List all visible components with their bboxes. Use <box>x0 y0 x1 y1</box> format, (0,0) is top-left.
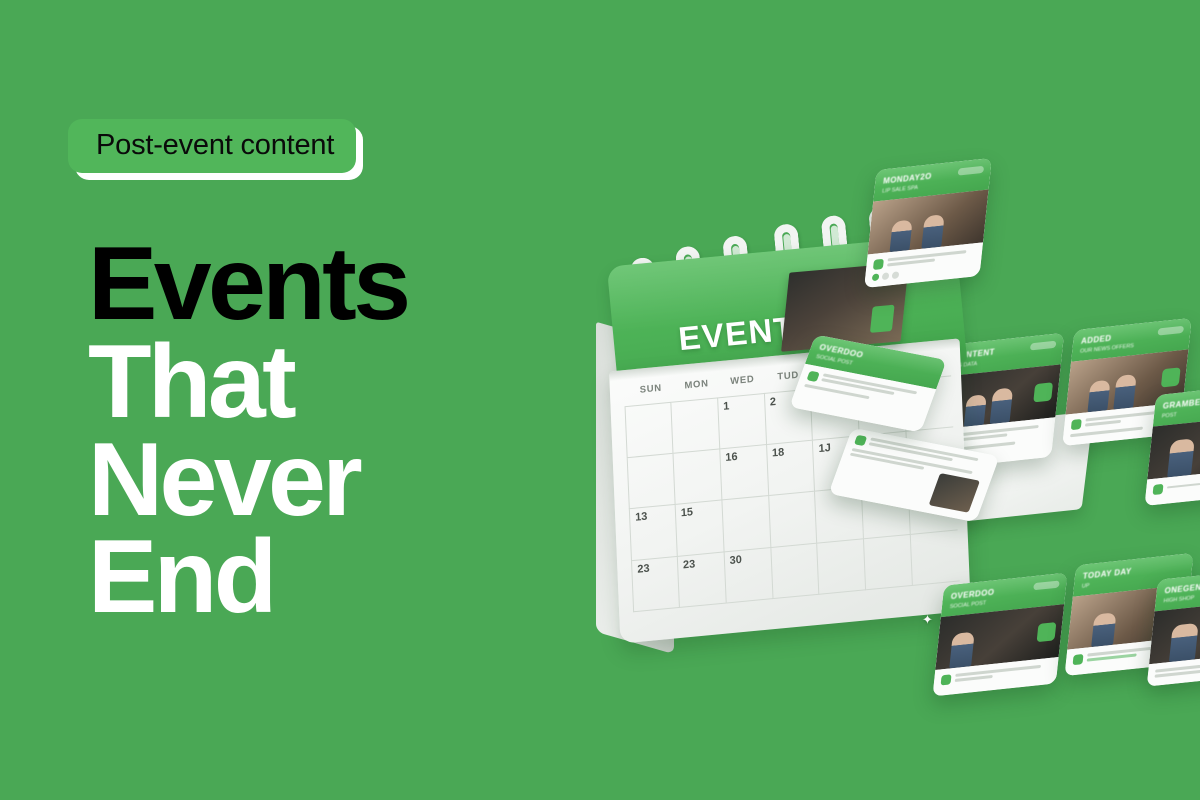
body-row <box>1153 474 1200 495</box>
headline-line-3: Never <box>88 432 548 530</box>
photo-person <box>949 632 975 669</box>
calendar-cell <box>818 539 867 595</box>
calendar-cell: 16 <box>720 444 769 500</box>
text-line <box>955 675 993 682</box>
photo-person <box>964 394 987 427</box>
headline-line-1: Events <box>88 236 548 334</box>
calendar-cell: 23 <box>678 552 727 608</box>
day-number: 1J <box>818 441 831 454</box>
calendar-illustration: CONTENT BIG DATA <box>540 0 1200 800</box>
calendar-cell <box>911 530 960 586</box>
headline-line-4: End <box>88 529 548 627</box>
calendar-cell <box>769 492 818 548</box>
photo-person <box>1091 612 1116 647</box>
photo-person <box>1087 380 1110 413</box>
reaction-chip <box>872 273 880 281</box>
calendar-cell <box>722 496 771 552</box>
reaction-chip <box>892 271 900 279</box>
text-line <box>1085 420 1121 426</box>
day-number: 23 <box>637 562 650 575</box>
calendar-cell: 18 <box>767 440 816 496</box>
calendar-cell: 23 <box>631 556 680 612</box>
calendar-cell: 30 <box>724 548 773 604</box>
post-card: MONDAY2O LIP SALE SPA <box>864 158 992 288</box>
sparkle-icon: ✦ <box>922 612 933 628</box>
calendar-cell <box>671 397 720 453</box>
day-number: 1 <box>723 400 730 413</box>
photo-logo-badge <box>1033 382 1053 402</box>
avatar-icon <box>873 259 884 270</box>
text-line <box>1167 478 1200 489</box>
calendar-cell <box>627 453 676 509</box>
post-card: OVERDOO SOCIAL POST <box>933 573 1068 697</box>
photo-person <box>1167 438 1195 477</box>
calendar-cell: 15 <box>675 500 724 556</box>
avatar-icon <box>854 435 867 446</box>
day-name: WED <box>719 373 765 388</box>
category-badge: Post-event content <box>68 119 356 173</box>
day-number: 18 <box>772 446 785 459</box>
calendar-cell <box>771 543 820 599</box>
calendar-cell <box>625 402 674 458</box>
avatar-icon <box>941 674 952 685</box>
page-title: Events That Never End <box>88 236 548 627</box>
text-lines <box>957 424 1048 444</box>
calendar-cell <box>673 449 722 505</box>
day-number: 30 <box>729 553 742 566</box>
text-column: Post-event content Events That Never End <box>0 0 560 800</box>
headline-line-2: That <box>88 334 548 432</box>
day-number: 15 <box>681 506 694 519</box>
photo-person <box>990 387 1014 424</box>
inline-photo <box>929 473 980 513</box>
avatar-icon <box>1073 654 1084 665</box>
calendar-cell: 13 <box>629 505 678 561</box>
photo-person <box>921 214 944 249</box>
day-number: 2 <box>770 396 777 409</box>
body-row <box>941 664 1051 686</box>
day-number: 13 <box>635 511 648 524</box>
avatar-icon <box>806 371 819 382</box>
day-number: 23 <box>683 558 696 571</box>
category-badge-label: Post-event content <box>96 129 334 161</box>
text-lines <box>954 664 1051 684</box>
calendar-cell: 1 <box>718 393 767 449</box>
day-number: 16 <box>725 450 738 463</box>
photo-logo-badge <box>1037 622 1057 642</box>
photo-person <box>1113 374 1136 410</box>
day-name: MON <box>673 377 719 392</box>
text-lines <box>1167 477 1200 491</box>
avatar-icon <box>1153 484 1164 495</box>
reaction-chip <box>882 272 890 280</box>
avatar-icon <box>1071 419 1082 430</box>
photo-person <box>1169 623 1199 662</box>
photo-logo-badge <box>1161 367 1181 387</box>
day-name: SUN <box>628 381 674 396</box>
text-line <box>955 665 1041 677</box>
photo-person <box>890 220 913 253</box>
calendar-cell <box>864 534 913 590</box>
poster-canvas: Post-event content Events That Never End… <box>0 0 1200 800</box>
